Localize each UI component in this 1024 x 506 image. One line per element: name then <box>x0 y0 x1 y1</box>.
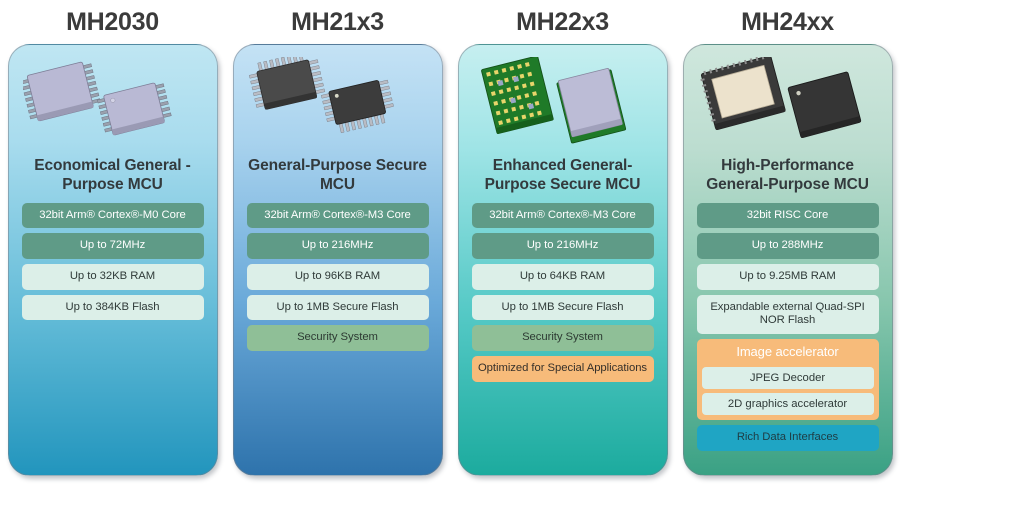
column-title: MH2030 <box>0 0 225 44</box>
feature-group-title: Image accelerator <box>702 339 874 363</box>
feature-row[interactable]: Rich Data Interfaces <box>697 425 879 451</box>
feature-group-item[interactable]: 2D graphics accelerator <box>702 393 874 415</box>
card-subtitle: General-Purpose Secure MCU <box>242 157 434 195</box>
product-column-mh21x3: MH21x3 <box>225 0 450 476</box>
chip-image-bga-green-module <box>473 57 653 149</box>
product-column-mh22x3: MH22x3 <box>450 0 675 476</box>
product-card[interactable]: General-Purpose Secure MCU32bit Arm® Cor… <box>233 44 443 476</box>
feature-row[interactable]: Optimized for Special Applications <box>472 356 654 382</box>
product-card[interactable]: Enhanced General-Purpose Secure MCU32bit… <box>458 44 668 476</box>
chip-image-qfp-black-pair <box>248 57 428 149</box>
column-title: MH21x3 <box>225 0 450 44</box>
feature-row[interactable]: 32bit Arm® Cortex®-M3 Core <box>247 203 429 229</box>
feature-row[interactable]: Up to 32KB RAM <box>22 264 204 290</box>
chip-image-lidded-bga-pair <box>698 57 878 149</box>
feature-row[interactable]: Up to 9.25MB RAM <box>697 264 879 290</box>
product-card[interactable]: High-Performance General-Purpose MCU32bi… <box>683 44 893 476</box>
card-subtitle: High-Performance General-Purpose MCU <box>692 157 884 195</box>
feature-group-image-accelerator[interactable]: Image acceleratorJPEG Decoder2D graphics… <box>697 339 879 420</box>
feature-list: 32bit RISC CoreUp to 288MHzUp to 9.25MB … <box>697 203 879 451</box>
feature-row[interactable]: 32bit Arm® Cortex®-M3 Core <box>472 203 654 229</box>
feature-row[interactable]: Up to 72MHz <box>22 233 204 259</box>
feature-row[interactable]: Up to 384KB Flash <box>22 295 204 321</box>
feature-row[interactable]: Security System <box>247 325 429 351</box>
mcu-family-comparison: MH2030 <box>0 0 1024 506</box>
feature-row[interactable]: 32bit Arm® Cortex®-M0 Core <box>22 203 204 229</box>
feature-row[interactable]: 32bit RISC Core <box>697 203 879 229</box>
product-column-mh24xx: MH24xx High-Performance Gene <box>675 0 900 476</box>
feature-row[interactable]: Up to 216MHz <box>247 233 429 259</box>
feature-list: 32bit Arm® Cortex®-M3 CoreUp to 216MHzUp… <box>247 203 429 351</box>
product-card[interactable]: Economical General - Purpose MCU32bit Ar… <box>8 44 218 476</box>
feature-row[interactable]: Up to 288MHz <box>697 233 879 259</box>
column-title: MH24xx <box>675 0 900 44</box>
chip-image-soic-lavender-pair <box>23 57 203 149</box>
feature-group-item[interactable]: JPEG Decoder <box>702 367 874 389</box>
feature-row[interactable]: Security System <box>472 325 654 351</box>
feature-list: 32bit Arm® Cortex®-M0 CoreUp to 72MHzUp … <box>22 203 204 321</box>
feature-row[interactable]: Up to 216MHz <box>472 233 654 259</box>
feature-row[interactable]: Up to 64KB RAM <box>472 264 654 290</box>
feature-row[interactable]: Up to 1MB Secure Flash <box>247 295 429 321</box>
feature-row[interactable]: Expandable external Quad-SPI NOR Flash <box>697 295 879 334</box>
feature-row[interactable]: Up to 1MB Secure Flash <box>472 295 654 321</box>
card-subtitle: Economical General - Purpose MCU <box>17 157 209 195</box>
feature-list: 32bit Arm® Cortex®-M3 CoreUp to 216MHzUp… <box>472 203 654 382</box>
product-column-mh2030: MH2030 <box>0 0 225 476</box>
feature-row[interactable]: Up to 96KB RAM <box>247 264 429 290</box>
card-subtitle: Enhanced General-Purpose Secure MCU <box>467 157 659 195</box>
column-title: MH22x3 <box>450 0 675 44</box>
